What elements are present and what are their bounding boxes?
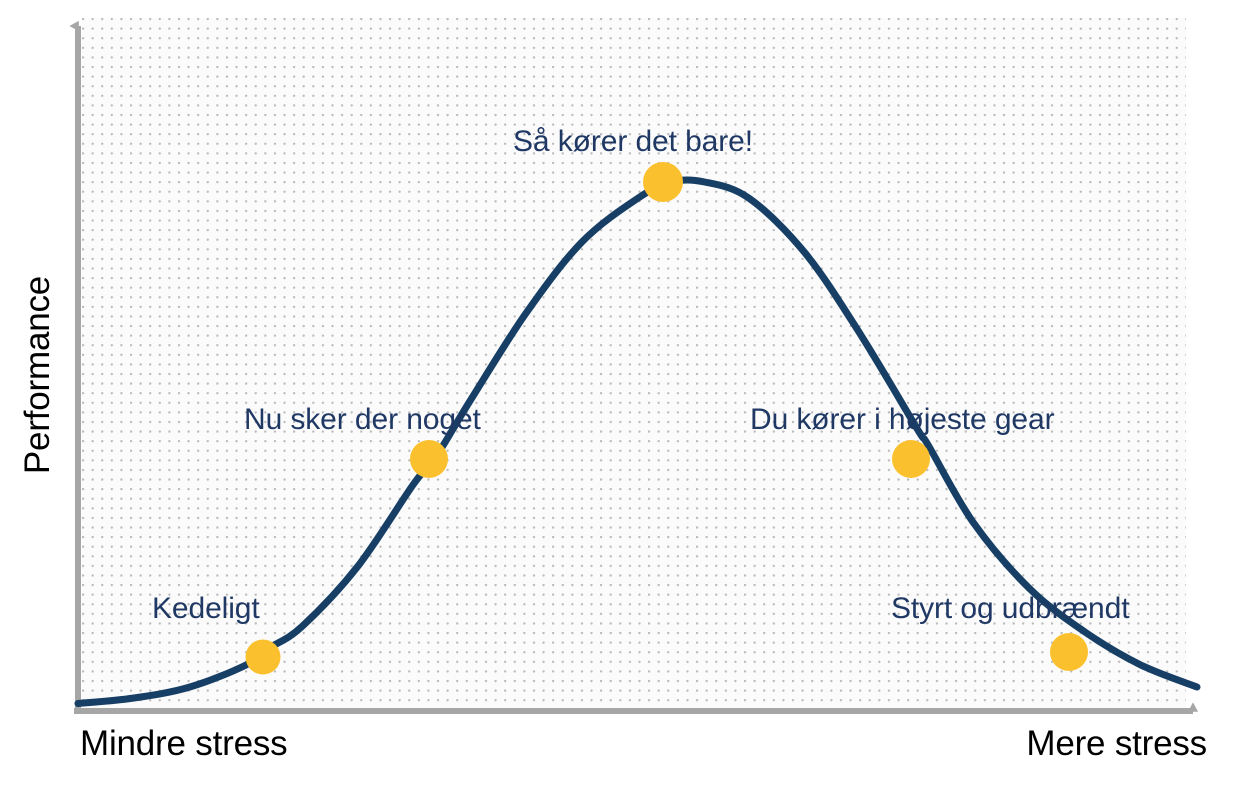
chart-graphics (0, 0, 1240, 803)
annotation-saa-koerer-det-bare: Så kører det bare! (513, 125, 753, 159)
x-axis-title-left: Mindre stress (80, 724, 287, 764)
y-axis-title: Performance (18, 265, 58, 485)
annotation-nu-sker-der-noget: Nu sker der noget (244, 403, 481, 437)
marker-point-5[interactable] (1050, 633, 1088, 671)
marker-point-3[interactable] (643, 162, 683, 202)
annotation-du-koerer-i-hoejeste-gear: Du kører i højeste gear (750, 403, 1054, 437)
annotation-kedeligt: Kedeligt (152, 592, 260, 626)
marker-point-1[interactable] (246, 640, 281, 675)
marker-point-4[interactable] (892, 440, 930, 478)
marker-point-2[interactable] (410, 440, 448, 478)
chart-canvas: Performance Mindre stress Mere stress Ke… (0, 0, 1240, 803)
annotation-styrt-og-udbraendt: Styrt og udbrændt (891, 592, 1129, 626)
x-axis-title-right: Mere stress (1026, 724, 1207, 764)
